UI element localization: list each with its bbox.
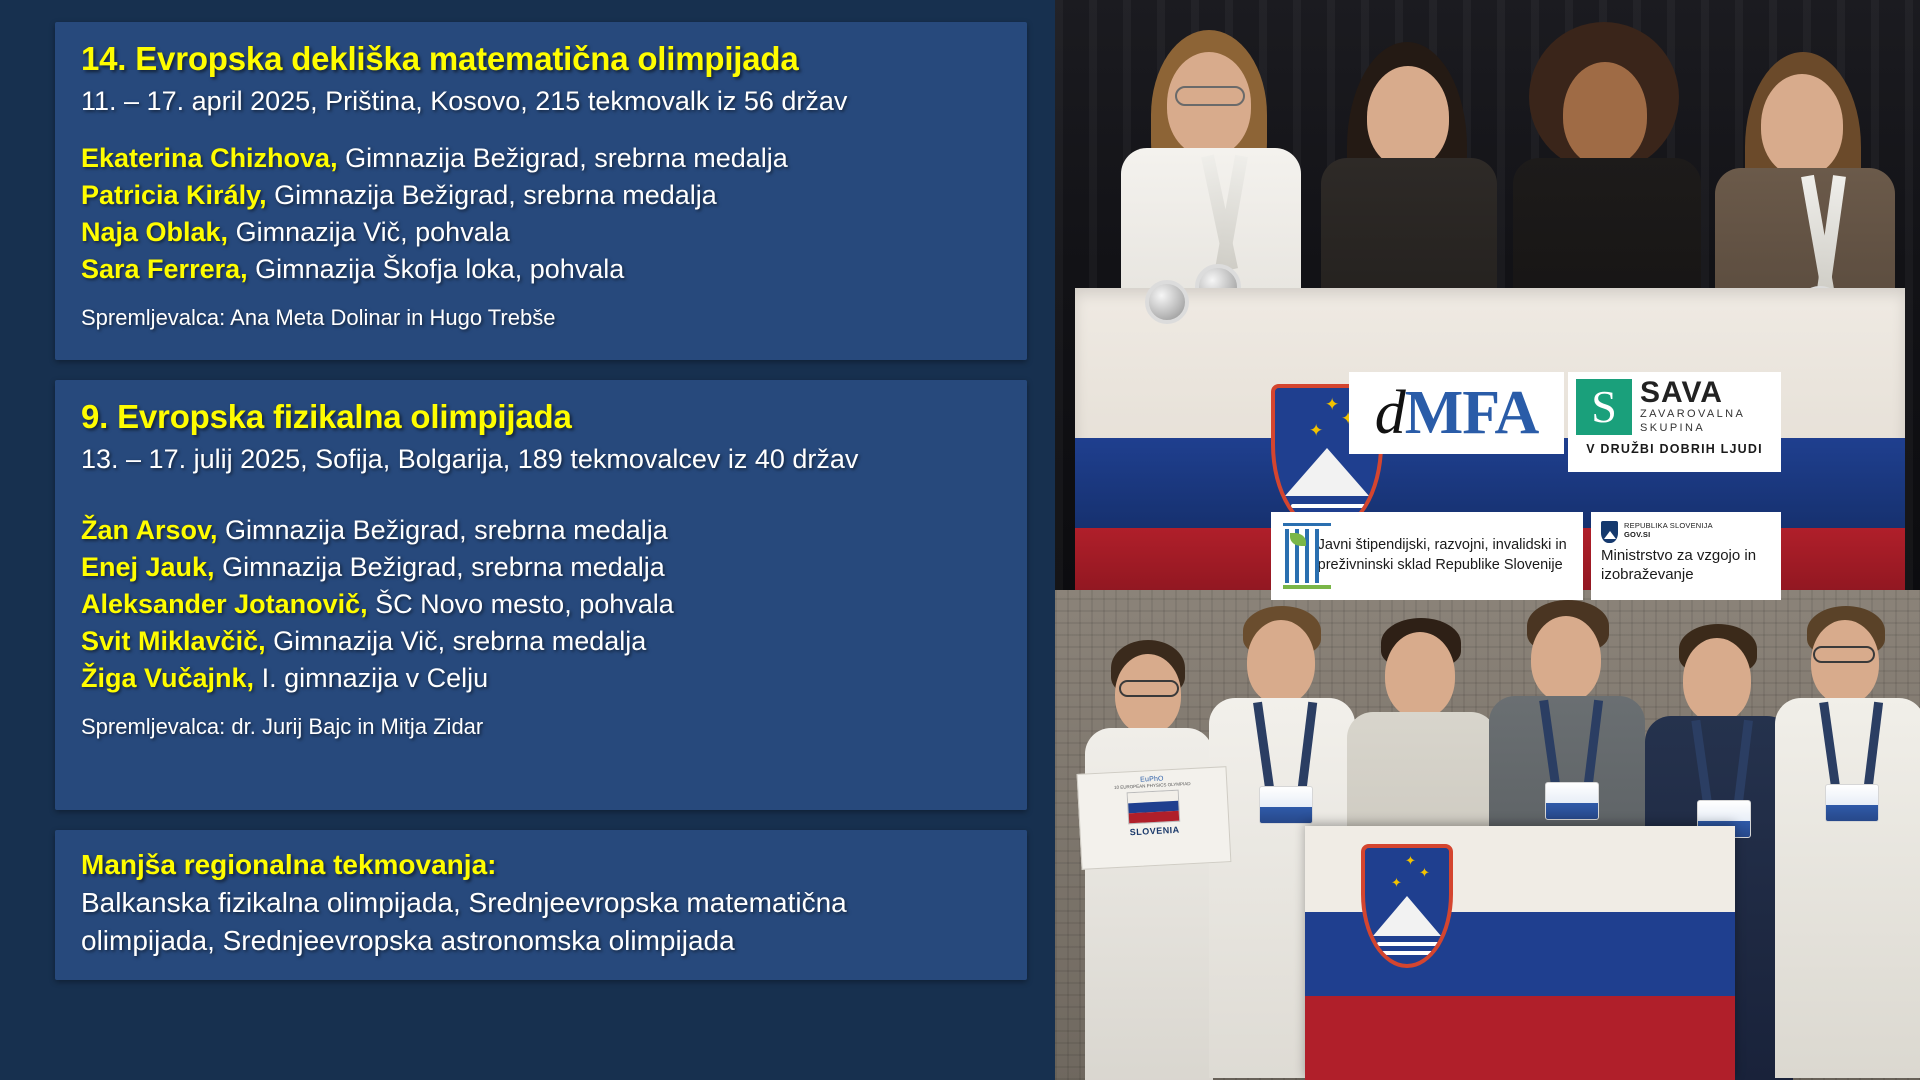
team-placard: EuPhO 10 EUROPEAN PHYSICS OLYMPIAD SLOVE… xyxy=(1077,766,1232,870)
conference-badge xyxy=(1259,786,1313,824)
star-icon: ✦ xyxy=(1309,422,1323,439)
logo-sava: S SAVA ZAVAROVALNA SKUPINA V DRUŽBI DOBR… xyxy=(1568,372,1781,472)
placard-country: SLOVENIA xyxy=(1081,822,1229,840)
triglav-mountain xyxy=(1373,896,1441,936)
participant-detail: Gimnazija Vič, pohvala xyxy=(228,217,510,247)
list-item: Žiga Vučajnk, I. gimnazija v Celju xyxy=(81,660,1001,697)
face xyxy=(1531,616,1601,702)
logo-javni-sklad: Javni štipendijski, razvojni, invalidski… xyxy=(1271,512,1583,600)
photo-egmo-team: ✦ ✦ ✦ xyxy=(1055,0,1920,600)
panel-math-escorts: Spremljevalca: Ana Meta Dolinar in Hugo … xyxy=(81,304,1001,333)
slovenian-flag-bottom: ✦ ✦ ✦ xyxy=(1305,826,1735,1080)
participant-name: Aleksander Jotanovič, xyxy=(81,589,368,619)
sklad-text: Javni štipendijski, razvojni, invalidski… xyxy=(1318,536,1573,575)
star-icon: ✦ xyxy=(1325,396,1339,413)
participant-name: Patricia Király, xyxy=(81,180,267,210)
list-item: Naja Oblak, Gimnazija Vič, pohvala xyxy=(81,214,1001,251)
list-item: Žan Arsov, Gimnazija Bežigrad, srebrna m… xyxy=(81,512,1001,549)
flag-red-stripe xyxy=(1305,996,1735,1080)
participant-detail: Gimnazija Bežigrad, srebrna medalja xyxy=(338,143,788,173)
slide-root: 14. Evropska dekliška matematična olimpi… xyxy=(0,0,1920,1080)
participant-detail: Gimnazija Bežigrad, srebrna medalja xyxy=(267,180,717,210)
dmfa-mfa: MFA xyxy=(1405,379,1539,447)
regional-heading: Manjša regionalna tekmovanja: xyxy=(81,846,1001,884)
dmfa-d: d xyxy=(1375,379,1405,447)
ministry-country: REPUBLIKA SLOVENIJA xyxy=(1624,521,1713,530)
list-item: Patricia Király, Gimnazija Bežigrad, sre… xyxy=(81,177,1001,214)
star-icon: ✦ xyxy=(1419,866,1430,879)
panel-math-olympiad: 14. Evropska dekliška matematična olimpi… xyxy=(55,22,1027,360)
participant-name: Žiga Vučajnk, xyxy=(81,663,254,693)
panel-physics-subtitle: 13. – 17. julij 2025, Sofija, Bolgarija,… xyxy=(81,438,1001,478)
participant-detail: Gimnazija Škofja loka, pohvala xyxy=(248,254,625,284)
coat-of-arms-icon xyxy=(1601,521,1618,543)
participant-detail: I. gimnazija v Celju xyxy=(254,663,488,693)
medal-on-flag xyxy=(1145,280,1189,324)
sava-line3: SKUPINA xyxy=(1640,422,1745,436)
participant-name: Ekaterina Chizhova, xyxy=(81,143,338,173)
glasses-icon xyxy=(1175,86,1245,106)
face xyxy=(1367,66,1449,168)
list-item: Ekaterina Chizhova, Gimnazija Bežigrad, … xyxy=(81,140,1001,177)
participant-name: Enej Jauk, xyxy=(81,552,215,582)
glasses-icon xyxy=(1813,646,1875,663)
list-item: Sara Ferrera, Gimnazija Škofja loka, poh… xyxy=(81,251,1001,288)
panel-physics-olympiad: 9. Evropska fizikalna olimpijada 13. – 1… xyxy=(55,380,1027,810)
torso xyxy=(1775,698,1920,1078)
panel-physics-escorts: Spremljevalca: dr. Jurij Bajc in Mitja Z… xyxy=(81,713,1001,742)
panel-physics-title: 9. Evropska fizikalna olimpijada xyxy=(81,396,1001,438)
logo-dmfa: dMFA xyxy=(1349,372,1564,454)
star-icon: ✦ xyxy=(1405,854,1416,867)
team-member xyxy=(1775,606,1920,1076)
conference-badge xyxy=(1545,782,1599,820)
wave-line xyxy=(1377,942,1441,946)
conference-badge xyxy=(1825,784,1879,822)
triglav-mountain xyxy=(1285,448,1369,496)
list-item: Aleksander Jotanovič, ŠC Novo mesto, poh… xyxy=(81,586,1001,623)
placard-flag-icon xyxy=(1127,790,1181,825)
sava-mark-icon: S xyxy=(1576,379,1632,435)
pillar-icon xyxy=(1281,523,1308,589)
panel-regional-competitions: Manjša regionalna tekmovanja: Balkanska … xyxy=(55,830,1027,980)
left-content-column: 14. Evropska dekliška matematična olimpi… xyxy=(0,0,1055,1080)
sava-line2: ZAVAROVALNA xyxy=(1640,408,1745,422)
participant-detail: ŠC Novo mesto, pohvala xyxy=(368,589,674,619)
face xyxy=(1761,74,1843,176)
face xyxy=(1563,62,1647,166)
ministry-portal: GOV.SI xyxy=(1624,530,1650,539)
panel-math-title: 14. Evropska dekliška matematična olimpi… xyxy=(81,38,1001,80)
face xyxy=(1683,638,1751,722)
sava-name: SAVA xyxy=(1640,378,1745,408)
sava-tagline: V DRUŽBI DOBRIH LJUDI xyxy=(1576,442,1773,456)
participant-detail: Gimnazija Bežigrad, srebrna medalja xyxy=(215,552,665,582)
logo-ministry: REPUBLIKA SLOVENIJA GOV.SI Ministrstvo z… xyxy=(1591,512,1781,600)
participant-detail: Gimnazija Bežigrad, srebrna medalja xyxy=(218,515,668,545)
glasses-icon xyxy=(1119,680,1179,697)
wave-line xyxy=(1377,951,1441,955)
participant-name: Svit Miklavčič, xyxy=(81,626,266,656)
participant-name: Žan Arsov, xyxy=(81,515,218,545)
face xyxy=(1247,620,1315,704)
regional-body: Balkanska fizikalna olimpijada, Srednjee… xyxy=(81,884,961,961)
panel-math-subtitle: 11. – 17. april 2025, Priština, Kosovo, … xyxy=(81,80,1001,120)
wave-line xyxy=(1291,504,1369,508)
participant-name: Naja Oblak, xyxy=(81,217,228,247)
participant-name: Sara Ferrera, xyxy=(81,254,248,284)
face xyxy=(1385,632,1455,718)
participant-detail: Gimnazija Vič, srebrna medalja xyxy=(266,626,647,656)
ministry-name: Ministrstvo za vzgojo in izobraževanje xyxy=(1601,547,1771,585)
star-icon: ✦ xyxy=(1391,876,1402,889)
panel-physics-entry-list: Žan Arsov, Gimnazija Bežigrad, srebrna m… xyxy=(81,512,1001,697)
panel-math-entry-list: Ekaterina Chizhova, Gimnazija Bežigrad, … xyxy=(81,140,1001,288)
list-item: Svit Miklavčič, Gimnazija Vič, srebrna m… xyxy=(81,623,1001,660)
list-item: Enej Jauk, Gimnazija Bežigrad, srebrna m… xyxy=(81,549,1001,586)
photo-eupho-team: EuPhO 10 EUROPEAN PHYSICS OLYMPIAD SLOVE… xyxy=(1055,590,1920,1080)
